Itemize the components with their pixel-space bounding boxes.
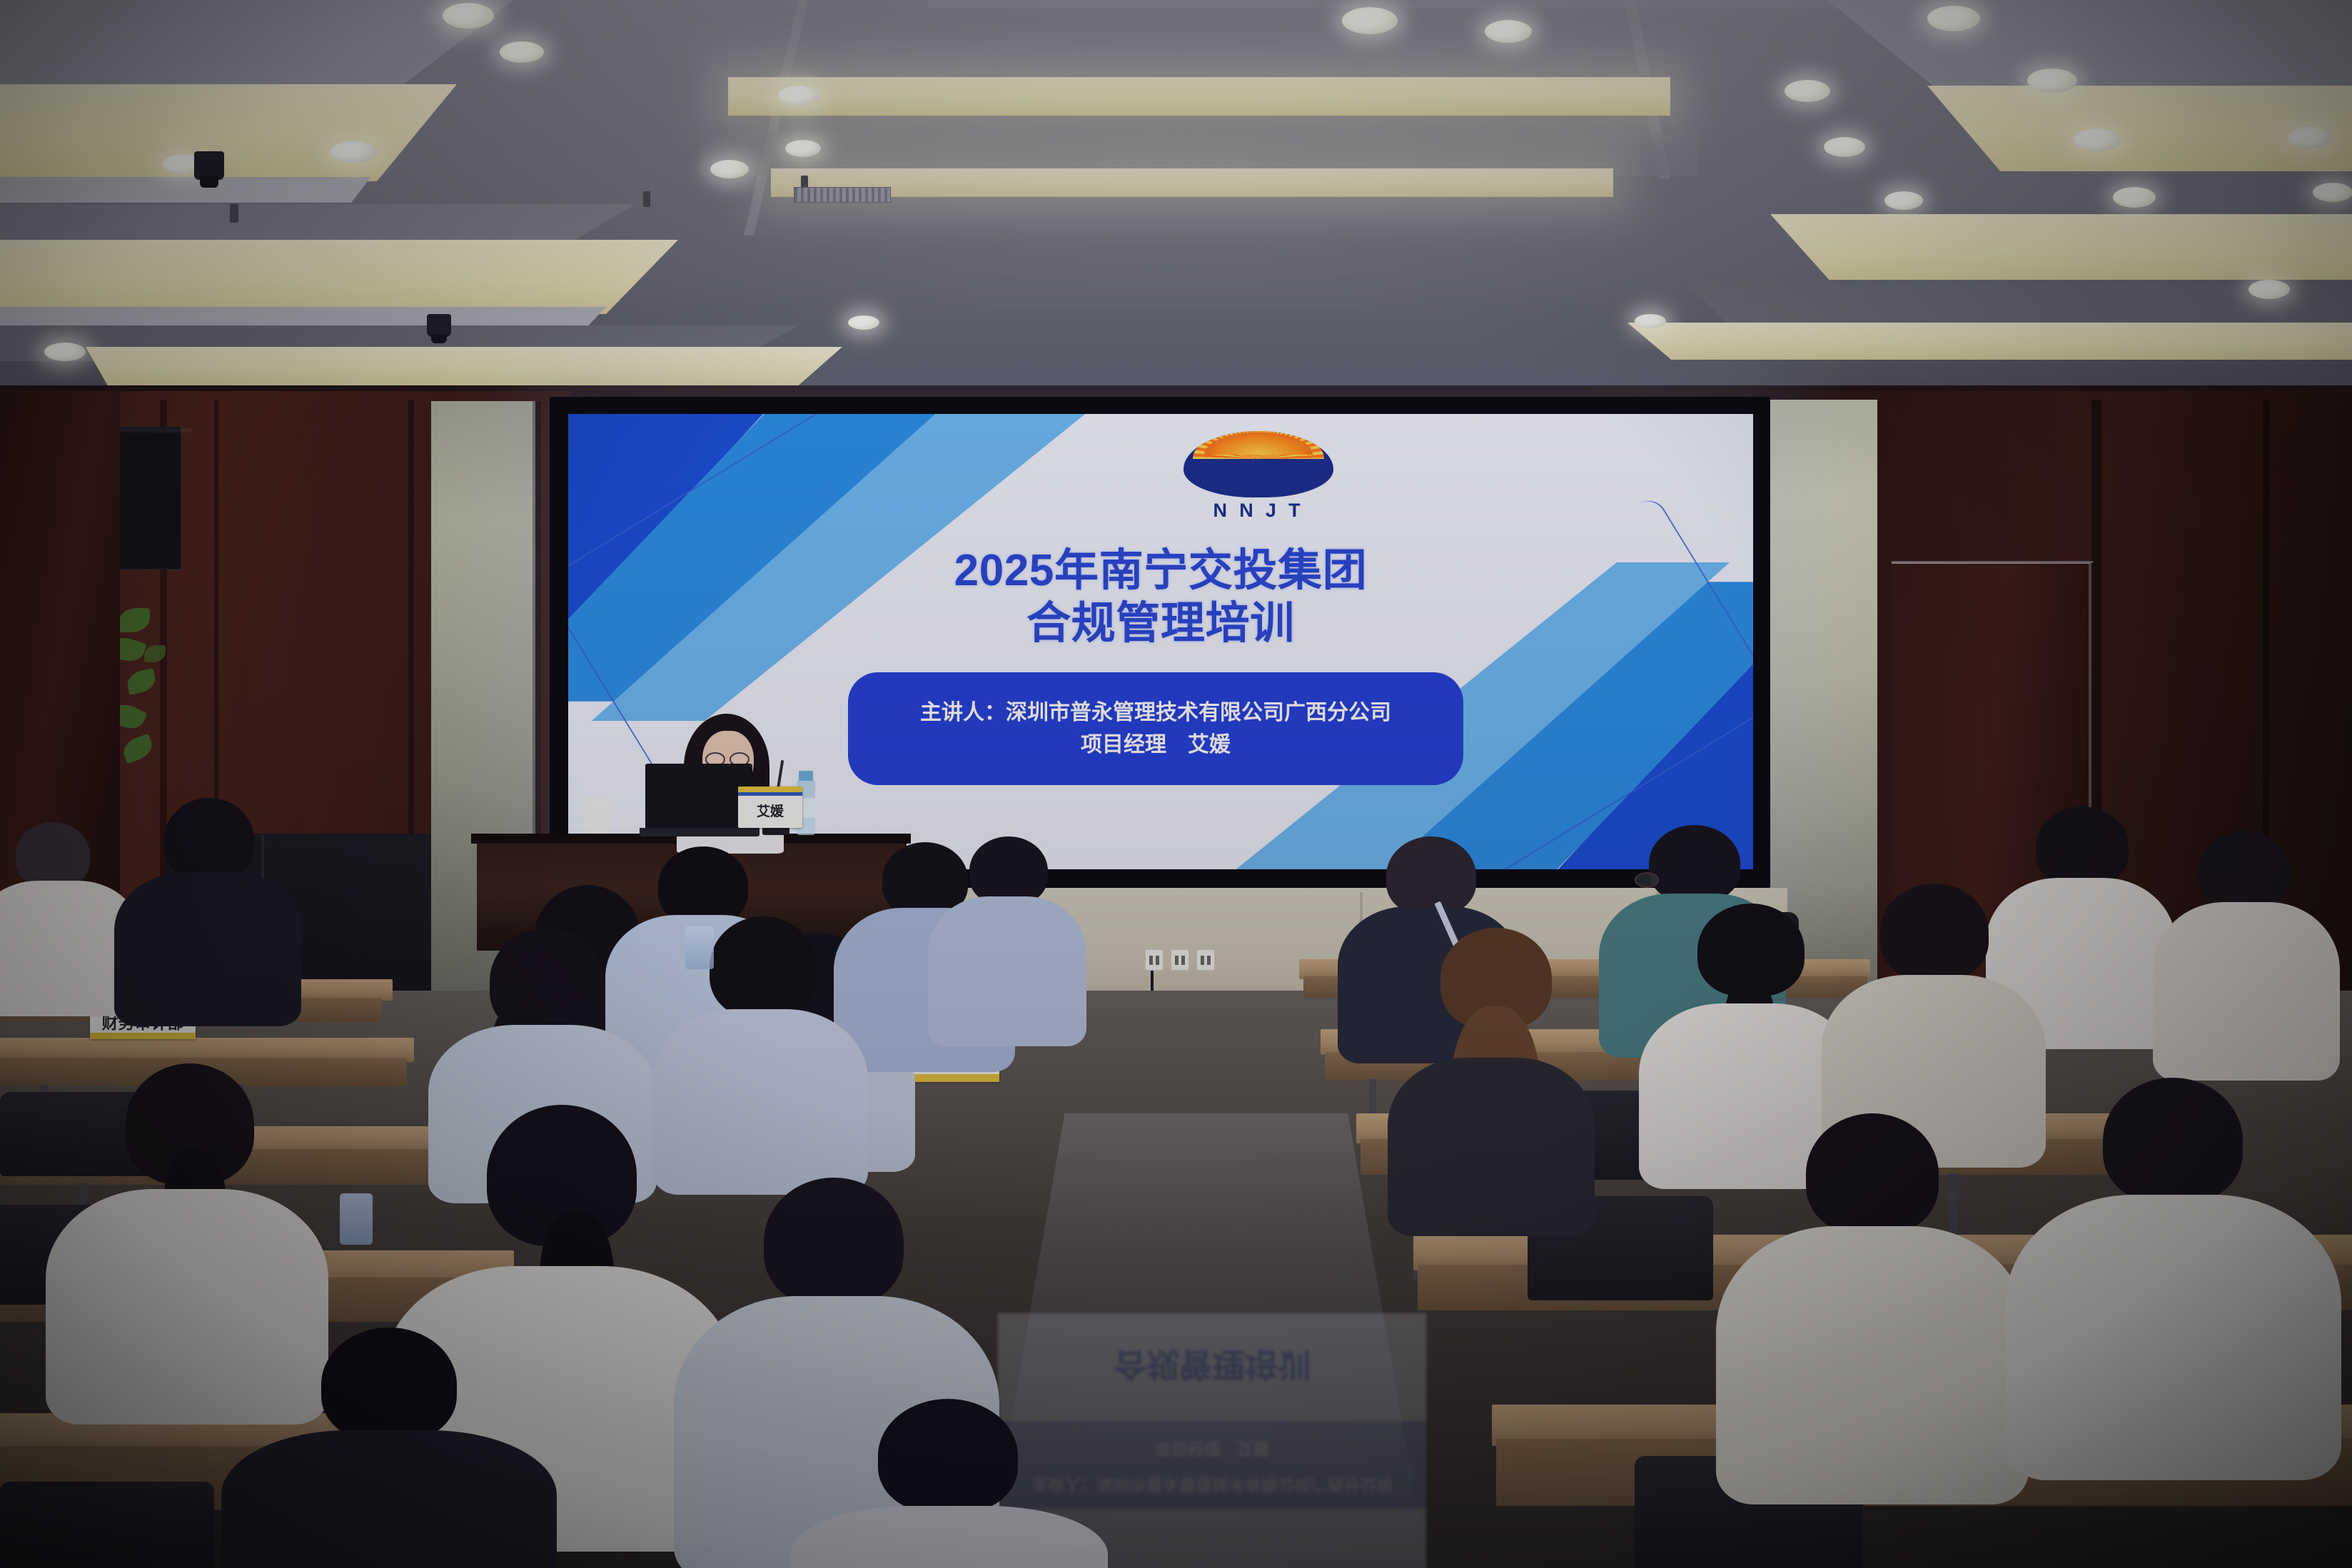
attendee — [57, 1063, 314, 1363]
placard-stripe-blue — [738, 792, 802, 796]
presenter-laptop-base — [640, 828, 759, 836]
ceiling-downlight — [710, 160, 749, 178]
attendee-hair — [2036, 806, 2129, 886]
attendee-hair — [969, 836, 1048, 905]
ceiling-downlight — [1485, 20, 1532, 43]
ceiling-downlight — [1927, 6, 1980, 31]
attendee — [228, 1327, 542, 1568]
attendee — [799, 1399, 1099, 1568]
attendee — [2156, 831, 2334, 1045]
coffee-mug — [585, 798, 610, 834]
power-outlet — [1196, 949, 1215, 971]
attendee — [928, 836, 1085, 1022]
power-outlet — [1171, 949, 1189, 971]
attendee-body — [114, 872, 301, 1026]
placard-presenter: 艾媛 — [738, 786, 802, 828]
ceiling-downlight — [1635, 314, 1666, 328]
chair — [0, 1482, 214, 1568]
ceiling-downlight — [2113, 187, 2156, 208]
ceiling-coffer-r1 — [1927, 86, 2352, 171]
attendee-hair — [164, 798, 254, 881]
ceiling-downlight — [2313, 183, 2352, 202]
ceiling-downlight — [2027, 69, 2077, 93]
power-outlet — [1145, 949, 1164, 971]
placard-stripe-top — [738, 786, 802, 792]
ceiling-coffer-center-2 — [771, 168, 1613, 197]
attendee-body — [2006, 1195, 2341, 1480]
attendee-body — [221, 1430, 557, 1568]
sprinkler-head-icon — [230, 204, 238, 223]
ceiling-downlight — [2288, 127, 2332, 148]
security-camera-icon — [427, 314, 451, 337]
attendee-hair — [1880, 884, 1989, 981]
security-camera-icon — [194, 151, 224, 180]
placard-text: 艾媛 — [738, 801, 802, 820]
attendee-body — [2153, 902, 2340, 1081]
reflected-title-line: 合规管理培训 — [998, 1343, 1426, 1390]
bottle-cap — [799, 771, 813, 781]
attendee-hair — [16, 822, 90, 888]
attendee-body — [791, 1506, 1108, 1568]
attendee-hair — [1806, 1113, 1939, 1235]
phone-screen-glow — [340, 1193, 373, 1245]
logo-wordmark: N N J T — [1183, 500, 1333, 522]
attendee-hair — [2103, 1078, 2243, 1203]
attendee-body — [928, 896, 1086, 1046]
slide-presenter-text: 主讲人：深圳市普永管理技术有限公司广西分公司 项目经理 艾媛 — [920, 697, 1391, 761]
ceiling-downlight — [1824, 137, 1865, 157]
ceiling-downlight — [500, 41, 544, 63]
ceiling-downlight — [443, 3, 494, 29]
ceiling-coffer-1 — [0, 84, 457, 181]
ceiling-downlight — [1785, 80, 1830, 102]
ceiling-downlight — [330, 141, 377, 163]
ceiling-coffer-center-1 — [728, 77, 1670, 116]
ceiling-downlight — [778, 86, 819, 106]
attendee-hair — [764, 1178, 904, 1306]
attendee-hair — [1649, 825, 1740, 902]
attendee-hair — [321, 1327, 457, 1442]
ceiling-downlight — [1342, 7, 1398, 34]
phone-screen-glow — [685, 926, 714, 969]
attendee-glasses — [1635, 872, 1659, 888]
ceiling-speaker — [113, 427, 181, 570]
photo-canvas: N N J T 2025年南宁交投集团 合规管理培训 主讲人：深圳市普永管理技术… — [0, 0, 2352, 1568]
attendee — [107, 798, 307, 1012]
attendee-body — [1388, 1058, 1595, 1236]
attendee-body — [1716, 1226, 2029, 1504]
slide-title-line-2: 合规管理培训 — [568, 597, 1753, 651]
presenter-company-line: 主讲人：深圳市普永管理技术有限公司广西分公司 — [920, 697, 1391, 729]
presenter-laptop — [645, 764, 752, 832]
ceiling-downlight — [44, 343, 86, 361]
ceiling-downlight — [2074, 128, 2121, 151]
attendee — [1385, 928, 1599, 1185]
attendee — [2020, 1078, 2327, 1449]
ceiling-downlight — [2248, 280, 2290, 299]
ceiling-downlight — [1884, 191, 1923, 210]
ceiling-coffer-r3 — [1627, 323, 2352, 360]
slide-presenter-box: 主讲人：深圳市普永管理技术有限公司广西分公司 项目经理 艾媛 — [848, 672, 1463, 785]
ceiling-coffer-r2 — [1770, 214, 2352, 283]
company-logo: N N J T — [1183, 431, 1333, 538]
presenter-name-line: 项目经理 艾媛 — [920, 729, 1391, 761]
ceiling-coffer-3 — [86, 347, 842, 387]
air-vent — [794, 187, 891, 203]
door-jamb — [1892, 561, 2093, 563]
attendee-hair — [490, 928, 604, 1035]
attendee — [1727, 1113, 2013, 1470]
ceiling-downlight — [848, 315, 879, 330]
attendee-hair — [878, 1399, 1018, 1513]
attendee — [1827, 884, 2041, 1126]
attendee-hair — [2199, 831, 2290, 911]
slide-title-line-1: 2025年南宁交投集团 — [568, 544, 1753, 598]
ceiling-coffer-2 — [0, 240, 678, 314]
ceiling-downlight — [785, 140, 821, 157]
logo-oval-shape — [1183, 431, 1333, 497]
attendee-hair — [1386, 836, 1476, 915]
attendee-hair — [658, 846, 748, 925]
attendee-hair — [710, 916, 817, 1018]
sprinkler-head-icon — [643, 191, 650, 207]
